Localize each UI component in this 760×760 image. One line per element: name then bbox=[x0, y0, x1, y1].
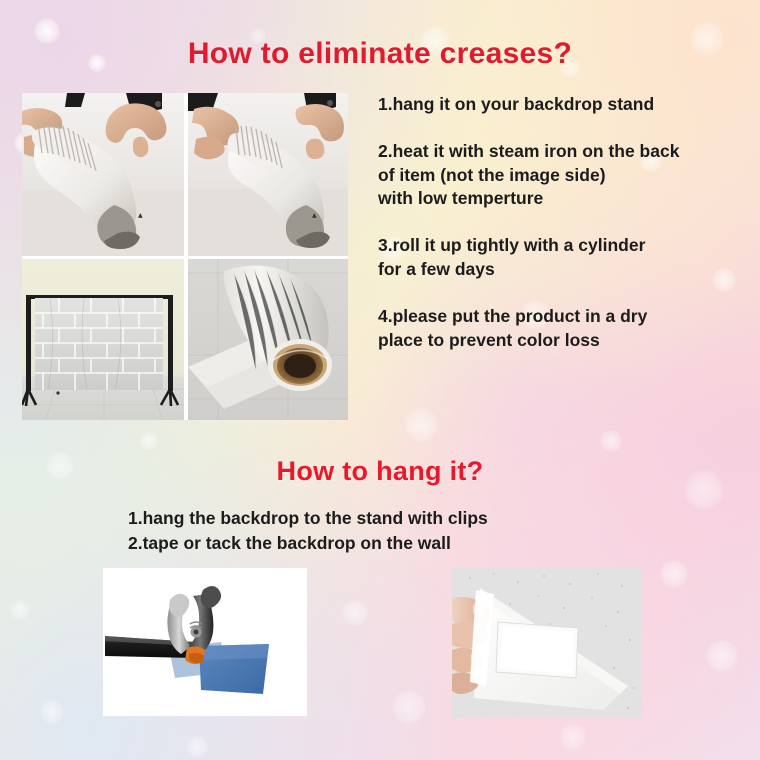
crease-steps-list: 1.hang it on your backdrop stand 2.heat … bbox=[378, 93, 756, 375]
hands-smoothing-creased-backdrop-icon-2: ▲ bbox=[188, 93, 348, 256]
step-3-line-2: for a few days bbox=[378, 258, 756, 282]
photo-hands-smoothing-1: ▲ bbox=[22, 93, 184, 256]
crease-removal-photo-collage: ▲ bbox=[22, 93, 348, 420]
page-title-how-to-hang: How to hang it? bbox=[0, 456, 760, 487]
photo-adhesive-tape bbox=[452, 568, 642, 718]
step-2-line-2: of item (not the image side) bbox=[378, 164, 756, 188]
hands-smoothing-creased-backdrop-icon: ▲ bbox=[22, 93, 184, 256]
photo-spring-clamp bbox=[103, 568, 307, 716]
backdrop-on-stand-icon bbox=[22, 259, 184, 420]
step-1-line-1: 1.hang it on your backdrop stand bbox=[378, 93, 756, 117]
hand-peeling-adhesive-backdrop-icon bbox=[452, 568, 642, 718]
step-item-1: 1.hang it on your backdrop stand bbox=[378, 93, 756, 117]
step-item-4: 4.please put the product in a dry place … bbox=[378, 305, 756, 353]
instruction-poster: How to eliminate creases? bbox=[0, 0, 760, 760]
step-item-3: 3.roll it up tightly with a cylinder for… bbox=[378, 234, 756, 282]
rolled-backdrop-cylinder-icon bbox=[188, 259, 348, 420]
step-item-2: 2.heat it with steam iron on the back of… bbox=[378, 140, 756, 211]
hang-instructions-list: 1.hang the backdrop to the stand with cl… bbox=[128, 506, 648, 556]
step-4-line-2: place to prevent color loss bbox=[378, 329, 756, 353]
photo-backdrop-stand bbox=[22, 259, 184, 420]
step-2-line-1: 2.heat it with steam iron on the back bbox=[378, 140, 756, 164]
hang-item-2: 2.tape or tack the backdrop on the wall bbox=[128, 531, 648, 556]
page-title-eliminate-creases: How to eliminate creases? bbox=[0, 37, 760, 71]
photo-hands-smoothing-2: ▲ bbox=[188, 93, 348, 256]
step-3-line-1: 3.roll it up tightly with a cylinder bbox=[378, 234, 756, 258]
svg-text:▲: ▲ bbox=[138, 212, 143, 219]
spring-clamp-holding-fabric-icon bbox=[103, 568, 307, 716]
photo-rolled-backdrop bbox=[188, 259, 348, 420]
step-2-line-3: with low temperture bbox=[378, 187, 756, 211]
svg-text:▲: ▲ bbox=[312, 212, 317, 219]
step-4-line-1: 4.please put the product in a dry bbox=[378, 305, 756, 329]
hang-item-1: 1.hang the backdrop to the stand with cl… bbox=[128, 506, 648, 531]
